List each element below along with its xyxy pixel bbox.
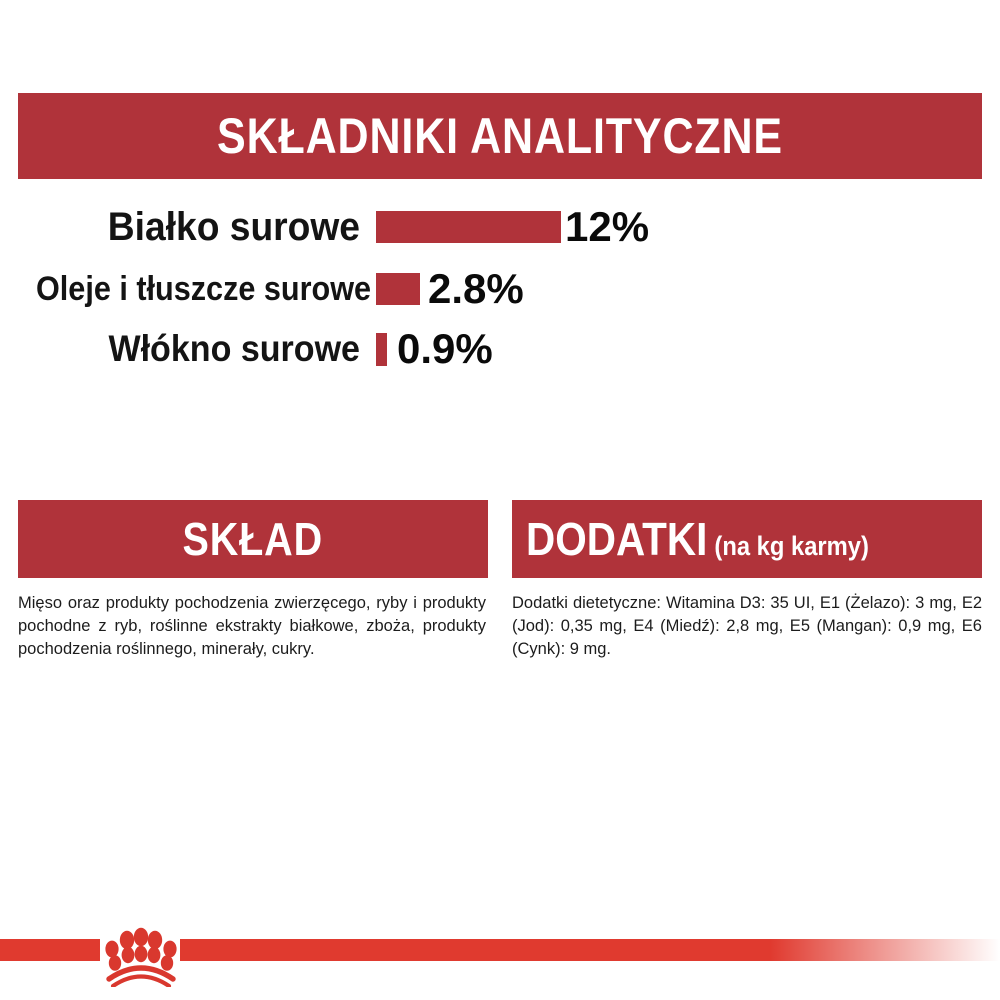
additives-title-group: DODATKI (na kg karmy) [526,512,869,566]
chart-value-label: 2.8% [428,265,524,313]
additives-header-bar: DODATKI (na kg karmy) [512,500,982,578]
composition-header-bar: SKŁAD [18,500,488,578]
chart-value-label: 0.9% [397,325,493,373]
chart-row: Białko surowe 12% [0,196,1000,258]
chart-value-label: 12% [565,203,649,251]
chart-bar-fats [376,273,420,305]
chart-category-label: Włókno surowe [29,328,360,370]
additives-title: DODATKI [526,512,707,566]
analytical-constituents-header-bar: SKŁADNIKI ANALITYCZNE [18,93,982,179]
footer-stripe-left [0,939,100,961]
chart-category-label: Oleje i tłuszcze surowe [36,270,360,309]
chart-category-label: Białko surowe [25,205,360,250]
footer-stripe-right [180,939,1000,961]
footer [0,925,1000,1000]
composition-body-text: Mięso oraz produkty pochodzenia zwierzęc… [18,592,486,661]
chart-bar-protein [376,211,561,243]
analytical-constituents-chart: Białko surowe 12% Oleje i tłuszcze surow… [0,196,1000,386]
additives-body-text: Dodatki dietetyczne: Witamina D3: 35 UI,… [512,592,982,661]
additives-title-subtext: (na kg karmy) [714,531,869,562]
chart-row: Oleje i tłuszcze surowe 2.8% [0,260,1000,318]
composition-title: SKŁAD [183,512,324,566]
chart-row: Włókno surowe 0.9% [0,320,1000,378]
product-label-panel: SKŁADNIKI ANALITYCZNE Białko surowe 12% … [0,0,1000,1000]
analytical-constituents-title: SKŁADNIKI ANALITYCZNE [217,107,783,165]
chart-bar-fibre [376,333,387,366]
royal-canin-crown-logo [98,925,184,987]
